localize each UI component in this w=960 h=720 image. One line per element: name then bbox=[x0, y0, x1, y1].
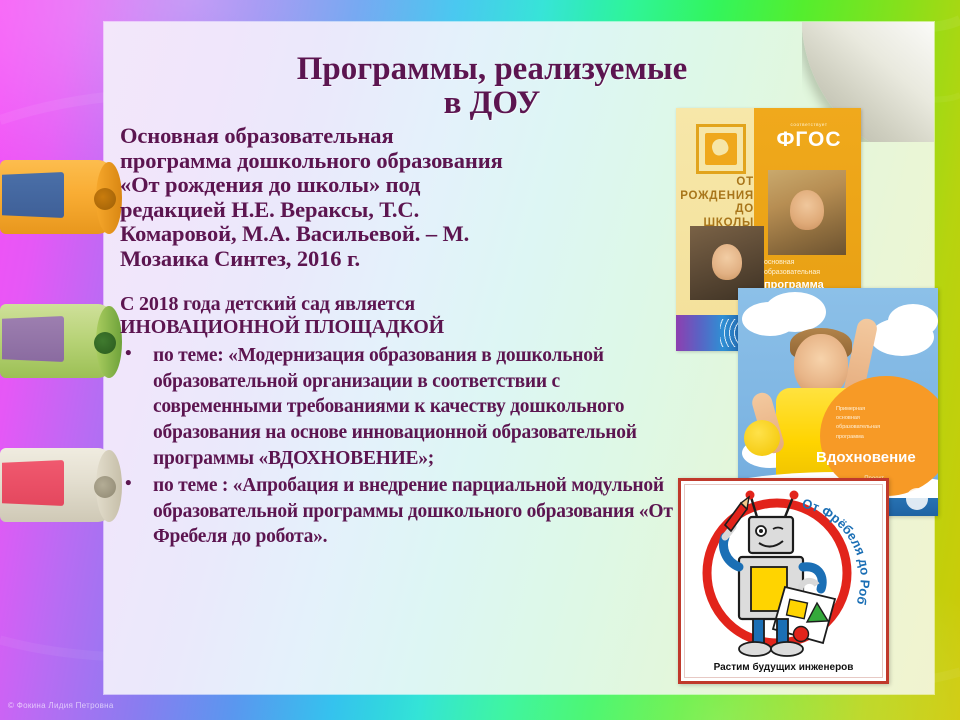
fgos-superscript: соответствует bbox=[760, 122, 858, 127]
scroll-lip bbox=[94, 332, 116, 354]
cloud-icon bbox=[888, 304, 938, 338]
photo-boy bbox=[768, 170, 846, 255]
list-item: по теме: «Модернизация образования в дош… bbox=[120, 343, 675, 471]
paragraph-main-program: Основная образовательная программа дошко… bbox=[120, 124, 510, 271]
slide: Программы, реализуемые в ДОУ Основная об… bbox=[0, 0, 960, 720]
poster-caption: Растим будущих инженеров bbox=[681, 662, 886, 673]
child-head bbox=[794, 334, 848, 396]
book-program-subtitle: Примерная основная образовательная прогр… bbox=[836, 405, 920, 442]
scroll-banner-orange bbox=[0, 146, 118, 254]
book-title-inspiration: Вдохновение bbox=[816, 449, 926, 466]
cloud-icon bbox=[764, 292, 826, 332]
scroll-flag bbox=[2, 460, 64, 506]
scroll-lip bbox=[94, 476, 116, 498]
watermark: © Фокина Лидия Петровна bbox=[8, 701, 114, 710]
scroll-flag bbox=[2, 316, 64, 362]
robot-illustration: От Фрёбеля до Робота bbox=[681, 481, 880, 675]
innovation-bullet-list: по теме: «Модернизация образования в дош… bbox=[120, 343, 675, 549]
poster-from-froebel-to-robot: От Фрёбеля до Робота Растим будущих инже… bbox=[678, 478, 889, 684]
innovation-lead-line-2: ИНОВАЦИОННОЙ ПЛОЩАДКОЙ bbox=[120, 316, 675, 339]
innovation-lead-line-1: С 2018 года детский сад является bbox=[120, 293, 415, 315]
innovation-lead: С 2018 года детский сад является ИНОВАЦИ… bbox=[120, 293, 675, 339]
list-item: по теме : «Апробация и внедрение парциал… bbox=[120, 473, 675, 550]
scroll-banner-cream bbox=[0, 434, 118, 542]
scroll-banner-green bbox=[0, 290, 118, 398]
fgos-label: ФГОС bbox=[760, 128, 858, 152]
yellow-disc bbox=[744, 420, 780, 456]
publisher-mark-icon bbox=[906, 488, 928, 510]
standard-badge-icon bbox=[696, 124, 746, 174]
innovation-block: С 2018 года детский сад является ИНОВАЦИ… bbox=[120, 293, 675, 552]
slide-title: Программы, реализуемые в ДОУ bbox=[292, 52, 692, 121]
scroll-flag bbox=[2, 172, 64, 218]
scroll-lip bbox=[94, 188, 116, 210]
book-title-text: ОТ РОЖДЕНИЯ ДО ШКОЛЫ bbox=[680, 176, 754, 230]
